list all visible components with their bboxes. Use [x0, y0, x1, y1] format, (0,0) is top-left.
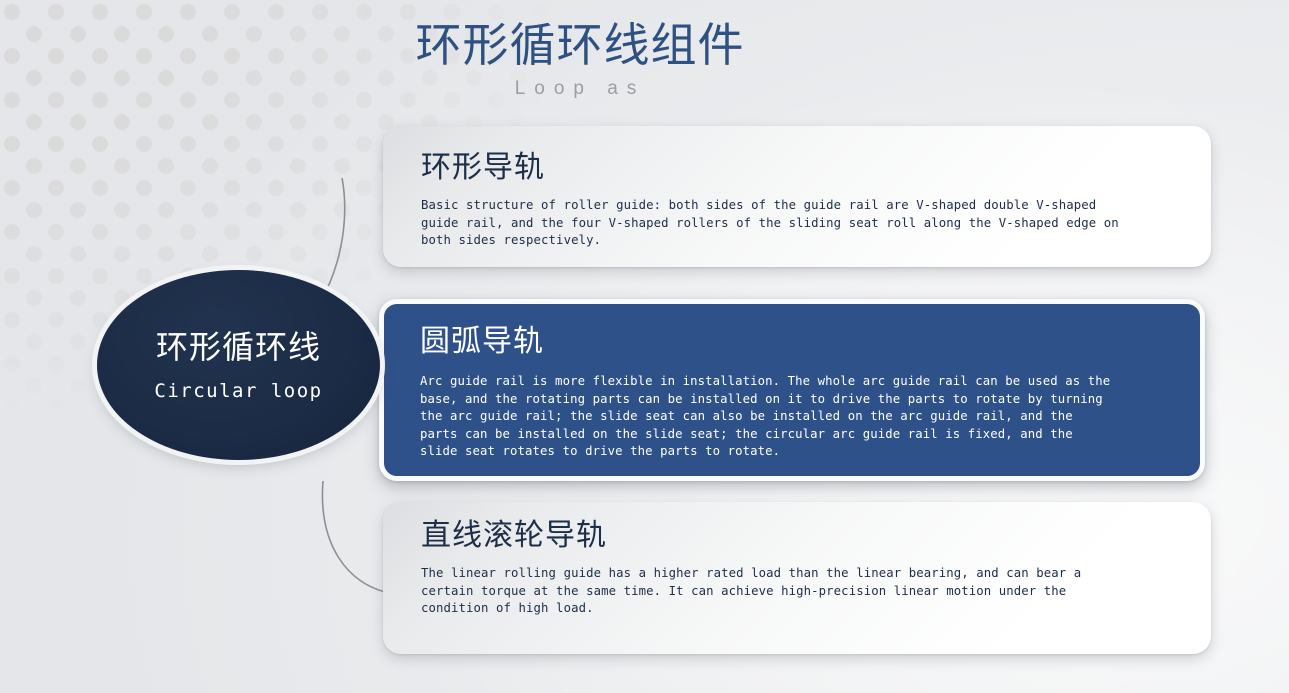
card-1-body: Basic structure of roller guide: both si…	[421, 197, 1121, 250]
card-2-body: Arc guide rail is more flexible in insta…	[420, 373, 1113, 461]
hub-label-en: Circular loop	[154, 378, 322, 404]
page-subtitle: Loop as	[300, 76, 860, 102]
content-card-2[interactable]: 圆弧导轨 Arc guide rail is more flexible in …	[379, 299, 1205, 481]
card-1-title: 环形导轨	[421, 148, 545, 188]
page-title: 环形循环线组件	[300, 16, 860, 74]
card-3-body: The linear rolling guide has a higher ra…	[421, 565, 1118, 618]
page-header: 环形循环线组件 Loop as	[300, 16, 860, 102]
hub-oval[interactable]: 环形循环线 Circular loop	[97, 270, 380, 460]
slide-canvas: 环形循环线组件 Loop as 环形循环线 Circular loop 环形导轨…	[0, 0, 1289, 693]
content-card-1[interactable]: 环形导轨 Basic structure of roller guide: bo…	[383, 126, 1211, 267]
content-card-3[interactable]: 直线滚轮导轨 The linear rolling guide has a hi…	[383, 502, 1211, 654]
connector-to-card-3	[322, 481, 390, 593]
card-3-title: 直线滚轮导轨	[421, 516, 607, 556]
hub-label-cn: 环形循环线	[156, 326, 321, 368]
card-2-title: 圆弧导轨	[420, 322, 544, 362]
